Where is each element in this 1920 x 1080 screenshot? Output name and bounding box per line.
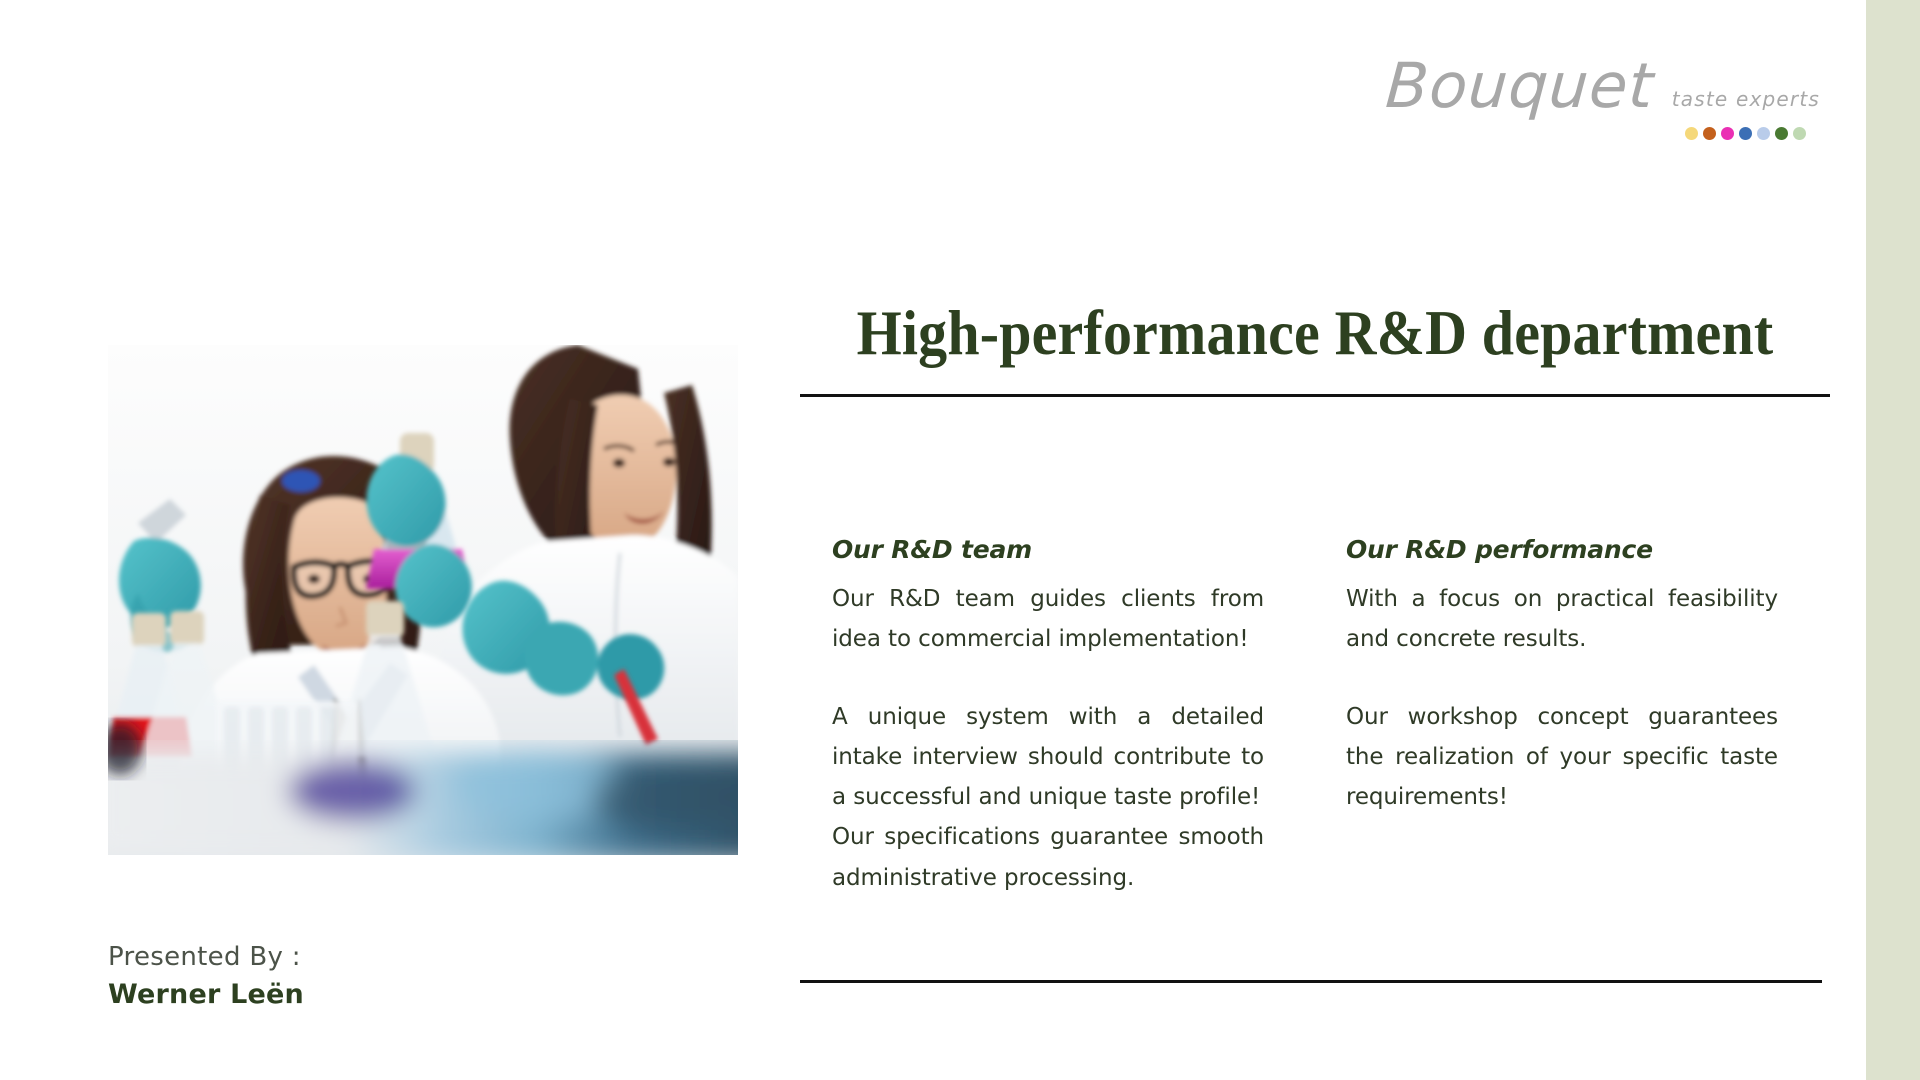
column-paragraph: With a focus on practical feasibility an… [1346,579,1778,660]
column-paragraph: Our workshop concept guarantees the real… [1346,697,1778,818]
slide-content: High-performance R&D department [800,300,1830,397]
lab-photo [108,345,738,855]
title-divider [800,394,1830,397]
presented-by-label: Presented By : [108,940,668,975]
column-heading: Our R&D team [832,535,1264,565]
brand-color-dots [1685,127,1806,140]
paragraph-spacer [1346,660,1778,697]
footer-divider [800,980,1822,983]
column-paragraph: Our R&D team guides clients from idea to… [832,579,1264,660]
column-rd-performance: Our R&D performance With a focus on prac… [1346,535,1778,898]
color-dot-1 [1685,127,1698,140]
brand-logo: Bouquet taste experts [1400,55,1820,140]
color-dot-5 [1757,127,1770,140]
color-dot-4 [1739,127,1752,140]
presentation-slide: Bouquet taste experts [0,0,1920,1080]
brand-name: Bouquet [1384,55,1656,117]
presenter-block: Presented By : Werner Leën [108,940,668,1014]
column-heading: Our R&D performance [1346,535,1778,565]
column-paragraph: A unique system with a detailed intake i… [832,697,1264,818]
color-dot-6 [1775,127,1788,140]
column-rd-team: Our R&D team Our R&D team guides clients… [832,535,1264,898]
paragraph-spacer [832,660,1264,697]
text-columns: Our R&D team Our R&D team guides clients… [832,535,1832,898]
logo-wordmark-row: Bouquet taste experts [1400,55,1820,117]
column-paragraph: Our specifications guarantee smooth admi… [832,817,1264,898]
color-dot-2 [1703,127,1716,140]
right-edge-band [1866,0,1920,1080]
presenter-name: Werner Leën [108,977,668,1013]
page-title: High-performance R&D department [841,300,1789,366]
color-dot-7 [1793,127,1806,140]
color-dot-3 [1721,127,1734,140]
brand-tagline: taste experts [1672,89,1820,117]
